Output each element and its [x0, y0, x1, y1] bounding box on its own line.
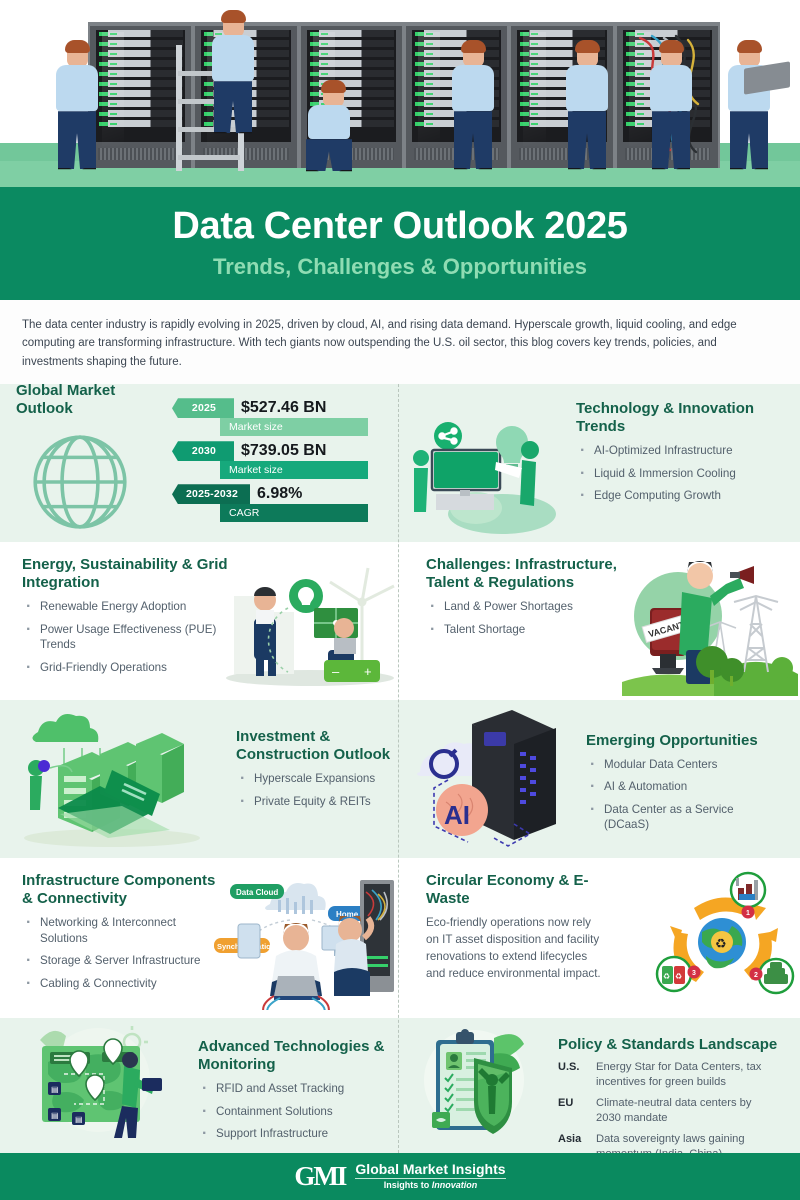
- ribbon-value: $527.46 BN: [234, 399, 326, 417]
- market-ribbon: 2025-2032 6.98% CAGR: [172, 484, 368, 522]
- market-ribbon: 2030 $739.05 BN Market size: [172, 441, 368, 479]
- bullet-list: Renewable Energy Adoption Power Usage Ef…: [22, 599, 240, 675]
- svg-text:♻: ♻: [715, 936, 727, 951]
- ribbon-value: $739.05 BN: [234, 442, 326, 460]
- brand-rule: [355, 1178, 505, 1179]
- clipboard-shield-compliance-illustration: [416, 1024, 544, 1146]
- technician-figure: [56, 44, 98, 169]
- ribbon-tag: 2025: [172, 398, 234, 418]
- list-item: RFID and Asset Tracking: [198, 1081, 392, 1096]
- svg-text:AI: AI: [444, 800, 470, 830]
- intro-paragraph: The data center industry is rapidly evol…: [22, 316, 778, 372]
- svg-text:VACANT: VACANT: [647, 619, 686, 639]
- list-item: Land & Power Shortages: [426, 599, 640, 614]
- grid-row: ▤▤▤ Advanced Technologies & Monitoring R…: [0, 1018, 800, 1153]
- isometric-servers-laptop-cloud-illustration: [16, 710, 202, 850]
- policy-row: Asia Data sovereignty laws gaining momen…: [558, 1132, 778, 1153]
- ribbon-tag: 2030: [172, 441, 234, 461]
- list-item: Containment Solutions: [198, 1104, 392, 1119]
- section-advanced-technologies-monitoring: ▤▤▤ Advanced Technologies & Monitoring R…: [0, 1018, 400, 1153]
- market-ribbons: 2025 $527.46 BN Market size 2030 $739.05…: [172, 398, 368, 527]
- section-infrastructure-components-connectivity: Infrastructure Components & Connectivity…: [0, 858, 400, 1018]
- list-item: Edge Computing Growth: [576, 488, 778, 503]
- section-heading: Technology & Innovation Trends: [576, 400, 778, 437]
- technician-figure: [212, 14, 254, 133]
- device-sync-cloud-cabling-illustration: Data Cloud Home PC Synchronization: [200, 872, 398, 1010]
- svg-text:Home PC: Home PC: [336, 910, 372, 919]
- section-investment-construction-outlook: Investment & Construction Outlook Hypers…: [0, 700, 400, 858]
- grid-row: Investment & Construction Outlook Hypers…: [0, 700, 800, 858]
- list-item: Hyperscale Expansions: [236, 771, 392, 786]
- intro-block: The data center industry is rapidly evol…: [0, 300, 800, 384]
- team-with-lightbulb-cloud-illustration: [410, 408, 560, 534]
- bullet-list: AI-Optimized Infrastructure Liquid & Imm…: [576, 443, 778, 503]
- ribbon-value: 6.98%: [250, 485, 302, 503]
- technician-figure: [566, 44, 608, 169]
- svg-text:Data Cloud: Data Cloud: [236, 888, 278, 897]
- list-item: Liquid & Immersion Cooling: [576, 466, 778, 481]
- policy-row: EU Climate-neutral data centers by 2030 …: [558, 1096, 778, 1127]
- gmi-logo-text: Global Market Insights Insights to Innov…: [355, 1162, 505, 1191]
- footer-brand-bar: GMI Global Market Insights Insights to I…: [0, 1153, 800, 1200]
- svg-text:▤: ▤: [75, 1115, 83, 1124]
- section-heading: Infrastructure Components & Connectivity: [22, 872, 218, 909]
- svg-text:▤: ▤: [51, 1111, 59, 1120]
- bullet-list: Hyperscale Expansions Private Equity & R…: [236, 771, 392, 809]
- brand-tagline: Insights to Innovation: [355, 1181, 505, 1190]
- list-item: Data Center as a Service (DCaaS): [586, 802, 778, 833]
- section-heading: Challenges: Infrastructure, Talent & Reg…: [426, 556, 640, 593]
- svg-text:+: +: [364, 664, 372, 679]
- list-item: Grid-Friendly Operations: [22, 660, 240, 675]
- section-global-market-outlook: Global Market Outlook: [0, 384, 400, 542]
- list-item: AI & Automation: [586, 779, 778, 794]
- bullet-list: RFID and Asset Tracking Containment Solu…: [198, 1081, 392, 1141]
- section-challenges-infrastructure-talent-regulations: Challenges: Infrastructure, Talent & Reg…: [400, 542, 800, 700]
- svg-text:2: 2: [754, 972, 758, 979]
- section-emerging-opportunities: AI Emerging Opportunities Modular Data C…: [400, 700, 800, 858]
- globe-icon: [24, 426, 136, 538]
- svg-text:1: 1: [746, 910, 750, 917]
- map-asset-tracking-illustration: ▤▤▤: [24, 1022, 166, 1146]
- list-item: Cabling & Connectivity: [22, 976, 218, 991]
- svg-text:♻: ♻: [663, 972, 670, 981]
- list-item: Modular Data Centers: [586, 757, 778, 772]
- list-item: AI-Optimized Infrastructure: [576, 443, 778, 458]
- policy-region: EU: [558, 1096, 596, 1127]
- technician-figure: [306, 84, 352, 171]
- section-policy-standards-landscape: Policy & Standards Landscape U.S. Energy…: [400, 1018, 800, 1153]
- list-item: Talent Shortage: [426, 622, 640, 637]
- svg-text:–: –: [332, 664, 340, 679]
- policy-region: Asia: [558, 1132, 596, 1153]
- section-energy-sustainability-grid-integration: Energy, Sustainability & Grid Integratio…: [0, 542, 400, 700]
- technician-figure: [452, 44, 494, 169]
- section-heading: Energy, Sustainability & Grid Integratio…: [22, 556, 240, 593]
- sections-grid: Global Market Outlook: [0, 384, 800, 1153]
- gmi-logo-mark: GMI: [294, 1161, 345, 1192]
- section-heading: Emerging Opportunities: [586, 732, 778, 750]
- ribbon-label: Market size: [220, 418, 368, 436]
- svg-text:♻: ♻: [675, 972, 682, 981]
- list-item: Power Usage Effectiveness (PUE) Trends: [22, 622, 240, 653]
- grid-row: Global Market Outlook: [0, 384, 800, 542]
- ai-brain-server-rack-illustration: AI: [410, 706, 572, 856]
- svg-text:3: 3: [692, 970, 696, 977]
- section-heading: Circular Economy & E-Waste: [426, 872, 604, 909]
- page-subtitle: Trends, Challenges & Opportunities: [0, 254, 800, 280]
- policy-region: U.S.: [558, 1060, 596, 1091]
- list-item: Renewable Energy Adoption: [22, 599, 240, 614]
- list-item: Networking & Interconnect Solutions: [22, 915, 218, 946]
- ribbon-tag: 2025-2032: [172, 484, 250, 504]
- section-heading: Policy & Standards Landscape: [558, 1036, 778, 1054]
- list-item: Storage & Server Infrastructure: [22, 953, 218, 968]
- section-heading: Advanced Technologies & Monitoring: [198, 1038, 392, 1075]
- section-heading: Global Market Outlook: [16, 384, 166, 419]
- ribbon-label: Market size: [220, 461, 368, 479]
- technician-figure: [728, 44, 770, 169]
- market-ribbon: 2025 $527.46 BN Market size: [172, 398, 368, 436]
- grid-row: Infrastructure Components & Connectivity…: [0, 858, 800, 1018]
- infographic-page: Data Center Outlook 2025 Trends, Challen…: [0, 0, 800, 1200]
- svg-text:Synchronization: Synchronization: [217, 942, 276, 951]
- policy-detail: Data sovereignty laws gaining momentum (…: [596, 1132, 778, 1153]
- policy-detail: Climate-neutral data centers by 2030 man…: [596, 1096, 778, 1127]
- technician-figure: [650, 44, 692, 169]
- bullet-list: Networking & Interconnect Solutions Stor…: [22, 915, 218, 991]
- policy-row: U.S. Energy Star for Data Centers, tax i…: [558, 1060, 778, 1091]
- recycling-loop-globe-illustration: ♻ ♻♻ 1 2 3: [648, 870, 796, 1010]
- bullet-list: Modular Data Centers AI & Automation Dat…: [586, 757, 778, 833]
- list-item: Private Equity & REITs: [236, 794, 392, 809]
- svg-text:▤: ▤: [51, 1085, 59, 1094]
- list-item: Support Infrastructure: [198, 1126, 392, 1141]
- section-technology-innovation-trends: Technology & Innovation Trends AI-Optimi…: [400, 384, 800, 542]
- section-heading: Investment & Construction Outlook: [236, 728, 392, 765]
- section-circular-economy-e-waste: Circular Economy & E-Waste Eco-friendly …: [400, 858, 800, 1018]
- page-title: Data Center Outlook 2025: [0, 205, 800, 248]
- column-divider: [398, 384, 399, 1153]
- ribbon-label: CAGR: [220, 504, 368, 522]
- hero-illustration: [0, 0, 800, 187]
- grid-row: Energy, Sustainability & Grid Integratio…: [0, 542, 800, 700]
- brand-name: Global Market Insights: [355, 1162, 505, 1177]
- vacant-chair-megaphone-pylon-illustration: VACANT: [622, 550, 798, 696]
- section-body: Eco-friendly operations now rely on IT a…: [426, 915, 604, 982]
- bullet-list: Land & Power Shortages Talent Shortage: [426, 599, 640, 637]
- title-band: Data Center Outlook 2025 Trends, Challen…: [0, 187, 800, 300]
- policy-detail: Energy Star for Data Centers, tax incent…: [596, 1060, 778, 1091]
